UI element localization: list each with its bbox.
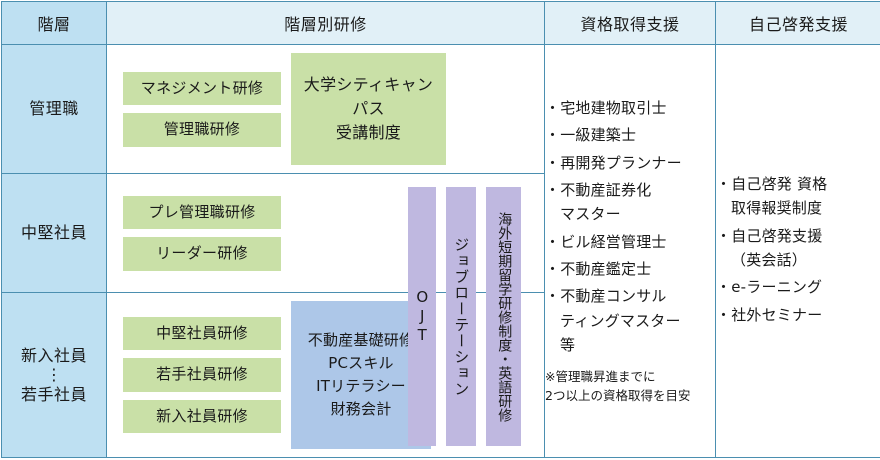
self-item-3: ・社外セミナー — [716, 306, 822, 324]
qualification-note-line1: ※管理職昇進までに — [545, 367, 715, 386]
training-box-management[interactable]: マネジメント研修 — [123, 72, 281, 106]
list-item[interactable]: ・自己啓発 資格 取得報奨制度 — [716, 172, 880, 221]
list-item[interactable]: ・一級建築士 — [545, 123, 715, 147]
training-box-pre-manager[interactable]: プレ管理職研修 — [123, 196, 281, 230]
basic-skills-line1: 不動産基礎研修 — [308, 329, 414, 352]
training-box-midlevel-employee[interactable]: 中堅社員研修 — [123, 317, 281, 351]
list-item[interactable]: ・ビル経営管理士 — [545, 230, 715, 254]
program-band-job-rotation[interactable]: ジョブローテーション — [446, 187, 476, 446]
table-row-manager: 管理職 マネジメント研修 管理職研修 大学シティキャンパス 受講制度 — [2, 45, 880, 174]
header-tier: 階層 — [2, 2, 107, 45]
tier-label-newhire-line3: 若手社員 — [2, 383, 106, 406]
table-header-row: 階層 階層別研修 資格取得支援 自己啓発支援 — [2, 2, 880, 45]
tier-label-newhire-line1: 新入社員 — [2, 344, 106, 367]
qual-item-3-cont: マスター — [545, 202, 715, 226]
qual-item-0: ・宅地建物取引士 — [545, 99, 667, 117]
basic-skills-line4: 財務会計 — [331, 398, 392, 421]
qual-item-5: ・不動産鑑定士 — [545, 260, 651, 278]
green-box-stack-midlevel: プレ管理職研修 リーダー研修 — [123, 182, 281, 284]
training-box-young-employee[interactable]: 若手社員研修 — [123, 358, 281, 392]
list-item[interactable]: ・不動産鑑定士 — [545, 257, 715, 281]
tier-label-manager: 管理職 — [2, 45, 107, 174]
training-box-leader[interactable]: リーダー研修 — [123, 237, 281, 271]
list-item[interactable]: ・e-ラーニング — [716, 275, 880, 299]
qual-item-1: ・一級建築士 — [545, 126, 636, 144]
training-matrix-table: 階層 階層別研修 資格取得支援 自己啓発支援 管理職 マネジメント研修 管理職研… — [1, 1, 880, 458]
training-cell-manager: マネジメント研修 管理職研修 大学シティキャンパス 受講制度 — [107, 45, 545, 174]
self-item-1-cont: （英会話） — [716, 248, 880, 272]
qualification-support-cell: ・宅地建物取引士 ・一級建築士 ・再開発プランナー ・不動産証券化 マスター ・… — [545, 45, 716, 458]
qualification-note-line2: 2つ以上の資格取得を目安 — [545, 386, 715, 405]
training-box-manager[interactable]: 管理職研修 — [123, 113, 281, 147]
header-self-development: 自己啓発支援 — [716, 2, 880, 45]
tier-label-midlevel: 中堅社員 — [2, 174, 107, 293]
program-band-ojt[interactable]: OJT — [408, 187, 436, 446]
program-band-overseas-study-english[interactable]: 海外短期留学研修制度・英語研修 — [486, 187, 521, 446]
qualification-list: ・宅地建物取引士 ・一級建築士 ・再開発プランナー ・不動産証券化 マスター ・… — [545, 96, 715, 357]
green-box-stack-manager: マネジメント研修 管理職研修 — [123, 53, 281, 165]
list-item[interactable]: ・不動産証券化 マスター — [545, 178, 715, 227]
green-box-stack-newhire: 中堅社員研修 若手社員研修 新入社員研修 — [123, 301, 281, 449]
qual-item-6-cont2: 等 — [545, 333, 715, 357]
qual-item-6-cont: ティングマスター — [545, 309, 715, 333]
self-item-0-cont: 取得報奨制度 — [716, 196, 880, 220]
self-item-2: ・e-ラーニング — [716, 278, 822, 296]
self-development-list: ・自己啓発 資格 取得報奨制度 ・自己啓発支援 （英会話） ・e-ラーニング ・… — [716, 172, 880, 327]
tier-label-newhire-dots: ⋮ — [2, 367, 106, 383]
basic-skills-line3: ITリテラシー — [316, 375, 406, 398]
training-cell-newhire: 中堅社員研修 若手社員研修 新入社員研修 不動産基礎研修 PCスキル ITリテラ… — [107, 293, 545, 458]
qual-item-4: ・ビル経営管理士 — [545, 233, 667, 251]
tier-label-newhire: 新入社員 ⋮ 若手社員 — [2, 293, 107, 458]
qual-item-6: ・不動産コンサル — [545, 287, 667, 305]
training-matrix-diagram: 階層 階層別研修 資格取得支援 自己啓発支援 管理職 マネジメント研修 管理職研… — [0, 1, 880, 460]
qual-item-3: ・不動産証券化 — [545, 181, 651, 199]
header-qualification-support: 資格取得支援 — [545, 2, 716, 45]
university-campus-line1: 大学シティキャンパス — [297, 73, 440, 121]
basic-skills-line2: PCスキル — [328, 352, 394, 375]
qual-item-2: ・再開発プランナー — [545, 154, 682, 172]
training-cell-midlevel: プレ管理職研修 リーダー研修 — [107, 174, 545, 293]
list-item[interactable]: ・再開発プランナー — [545, 151, 715, 175]
list-item[interactable]: ・不動産コンサル ティングマスター 等 — [545, 284, 715, 357]
training-box-new-employee[interactable]: 新入社員研修 — [123, 400, 281, 434]
training-box-university-city-campus[interactable]: 大学シティキャンパス 受講制度 — [291, 53, 446, 165]
self-item-0: ・自己啓発 資格 — [716, 175, 827, 193]
header-tier-training: 階層別研修 — [107, 2, 545, 45]
list-item[interactable]: ・自己啓発支援 （英会話） — [716, 224, 880, 273]
qualification-note: ※管理職昇進までに 2つ以上の資格取得を目安 — [545, 367, 715, 406]
university-campus-line2: 受講制度 — [336, 121, 401, 145]
self-item-1: ・自己啓発支援 — [716, 227, 822, 245]
self-development-support-cell: ・自己啓発 資格 取得報奨制度 ・自己啓発支援 （英会話） ・e-ラーニング ・… — [716, 45, 880, 458]
list-item[interactable]: ・社外セミナー — [716, 303, 880, 327]
list-item[interactable]: ・宅地建物取引士 — [545, 96, 715, 120]
